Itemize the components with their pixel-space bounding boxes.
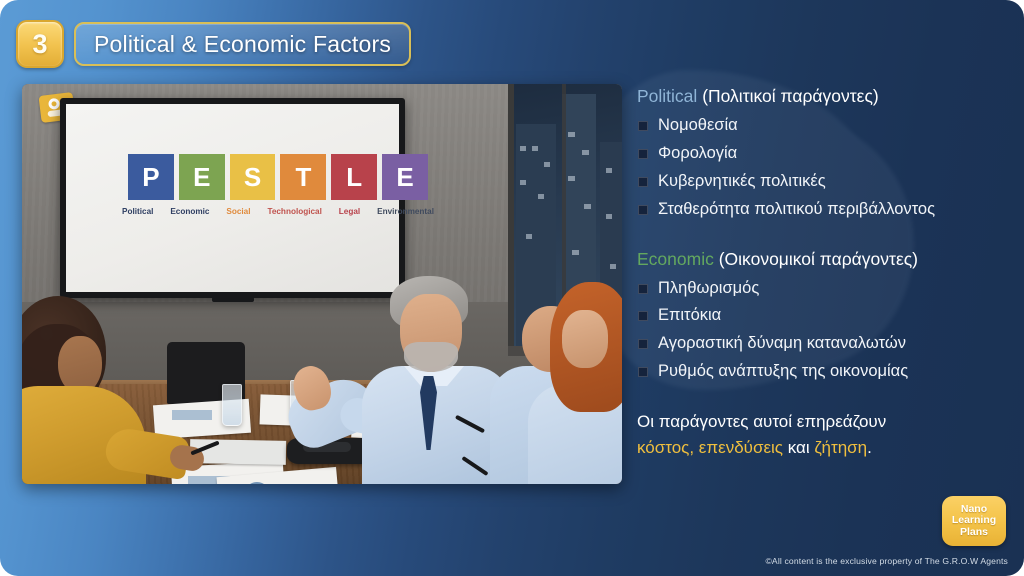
- copyright-footer: ©All content is the exclusive property o…: [765, 556, 1008, 566]
- list-item: Νομοθεσία: [637, 115, 1009, 136]
- nano-learning-plans-logo: Nano Learning Plans: [942, 496, 1006, 546]
- pestle-label-environmental: Environmental: [377, 208, 434, 216]
- logo-line-3: Plans: [960, 527, 988, 538]
- list-item: Κυβερνητικές πολιτικές: [637, 171, 1009, 192]
- closing-highlight-a: κόστος, επενδύσεις: [637, 438, 783, 457]
- slide-header: 3 Political & Economic Factors: [16, 20, 411, 68]
- pestle-letter-technological: T: [280, 154, 326, 200]
- closing-line-1: Οι παράγοντες αυτοί επηρεάζουν: [637, 409, 1009, 435]
- closing-statement: Οι παράγοντες αυτοί επηρεάζουν κόστος, ε…: [637, 409, 1009, 462]
- section-heading-political: Political (Πολιτικοί παράγοντες): [637, 86, 1009, 108]
- pestle-letter-political: P: [128, 154, 174, 200]
- list-item: Σταθερότητα πολιτικού περιβάλλοντος: [637, 199, 1009, 220]
- closing-conjunction: και: [783, 438, 814, 457]
- pestle-label-legal: Legal: [339, 208, 360, 216]
- boardroom-meeting-photo: PESTLE PoliticalEconomicSocialTechnologi…: [22, 84, 622, 484]
- logo-line-2: Learning: [952, 515, 996, 526]
- bullet-list-economic: Πληθωρισμός Επιτόκια Αγοραστική δύναμη κ…: [637, 278, 1009, 383]
- pestle-label-political: Political: [122, 208, 153, 216]
- list-item: Πληθωρισμός: [637, 278, 1009, 299]
- list-item: Επιτόκια: [637, 305, 1009, 326]
- section-translation-economic: (Οικονομικοί παράγοντες): [719, 249, 918, 269]
- water-glass: [222, 384, 242, 426]
- pestle-label-technological: Technological: [267, 208, 321, 216]
- list-item: Ρυθμός ανάπτυξης της οικονομίας: [637, 361, 1009, 382]
- slide-number-badge: 3: [16, 20, 64, 68]
- list-item: Φορολογία: [637, 143, 1009, 164]
- closing-line-2: κόστος, επενδύσεις και ζήτηση.: [637, 435, 1009, 461]
- section-heading-economic: Economic (Οικονομικοί παράγοντες): [637, 249, 1009, 271]
- document-sheet: [190, 439, 286, 465]
- bullet-list-political: Νομοθεσία Φορολογία Κυβερνητικές πολιτικ…: [637, 115, 1009, 220]
- slide-root: 3 Political & Economic Factors: [0, 0, 1024, 576]
- section-keyword-political: Political: [637, 86, 697, 106]
- pestle-label-row: PoliticalEconomicSocialTechnologicalLega…: [122, 208, 434, 216]
- closing-highlight-b: ζήτηση: [814, 438, 867, 457]
- section-keyword-economic: Economic: [637, 249, 714, 269]
- section-translation-political: (Πολιτικοί παράγοντες): [702, 86, 879, 106]
- list-item: Αγοραστική δύναμη καταναλωτών: [637, 333, 1009, 354]
- pestle-letter-legal: L: [331, 154, 377, 200]
- pestle-letter-environmental: E: [382, 154, 428, 200]
- pestle-letter-row: PESTLE: [128, 154, 428, 200]
- presentation-screen: PESTLE PoliticalEconomicSocialTechnologi…: [66, 104, 399, 292]
- pestle-label-economic: Economic: [170, 208, 209, 216]
- closing-period: .: [867, 438, 872, 457]
- slide-title-box: Political & Economic Factors: [74, 22, 411, 66]
- page-title: Political & Economic Factors: [94, 33, 391, 56]
- pestle-letter-economic: E: [179, 154, 225, 200]
- content-panel: Political (Πολιτικοί παράγοντες) Νομοθεσ…: [637, 86, 1009, 461]
- pestle-label-social: Social: [226, 208, 250, 216]
- pestle-letter-social: S: [230, 154, 276, 200]
